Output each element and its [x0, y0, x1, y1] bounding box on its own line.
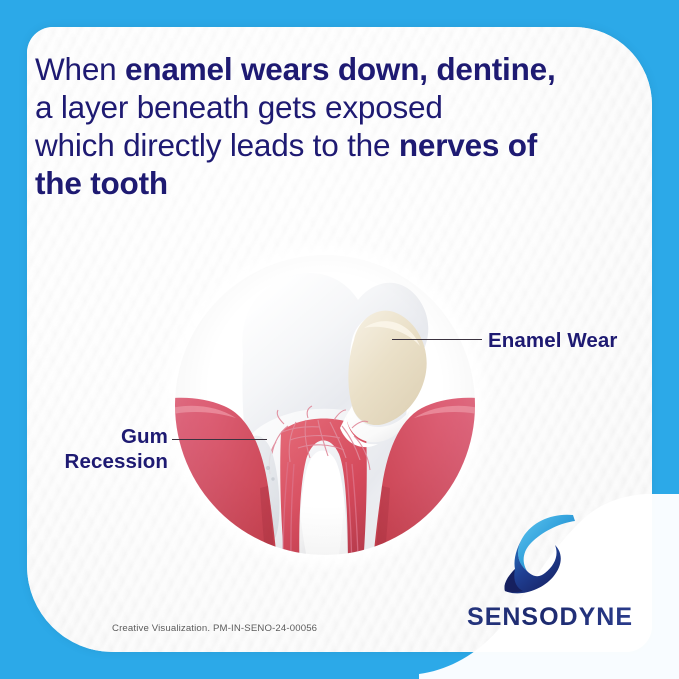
- callout-label-gum-recession: Gum Recession: [20, 424, 168, 474]
- brand-wordmark: SENSODYNE: [467, 603, 633, 632]
- headline-line-1-normal: When: [35, 51, 125, 87]
- advertisement-creative: When enamel wears down, dentine, a layer…: [0, 0, 679, 679]
- leader-line-gum-recession: [172, 439, 267, 440]
- leader-line-enamel-wear: [392, 339, 482, 340]
- headline-line-4-bold: the tooth: [35, 165, 168, 201]
- tooth-illustration: [148, 236, 502, 590]
- headline-text: When enamel wears down, dentine, a layer…: [35, 50, 580, 202]
- headline-line-1: When enamel wears down, dentine,: [35, 50, 580, 88]
- sensodyne-s-swoosh-icon: [495, 507, 587, 599]
- disc-vignette: [175, 255, 475, 555]
- headline-line-3: which directly leads to the nerves of: [35, 126, 580, 164]
- headline-line-1-bold: enamel wears down, dentine,: [125, 51, 555, 87]
- disclaimer-text: Creative Visualization. PM-IN-SENO-24-00…: [112, 623, 317, 634]
- headline-line-3-normal: which directly leads to the: [35, 127, 399, 163]
- tooth-cross-section-graphic: [148, 236, 502, 590]
- headline-line-4: the tooth: [35, 164, 580, 202]
- callout-label-enamel-wear: Enamel Wear: [488, 328, 617, 353]
- headline-line-3-bold: nerves of: [399, 127, 537, 163]
- headline-line-2: a layer beneath gets exposed: [35, 88, 580, 126]
